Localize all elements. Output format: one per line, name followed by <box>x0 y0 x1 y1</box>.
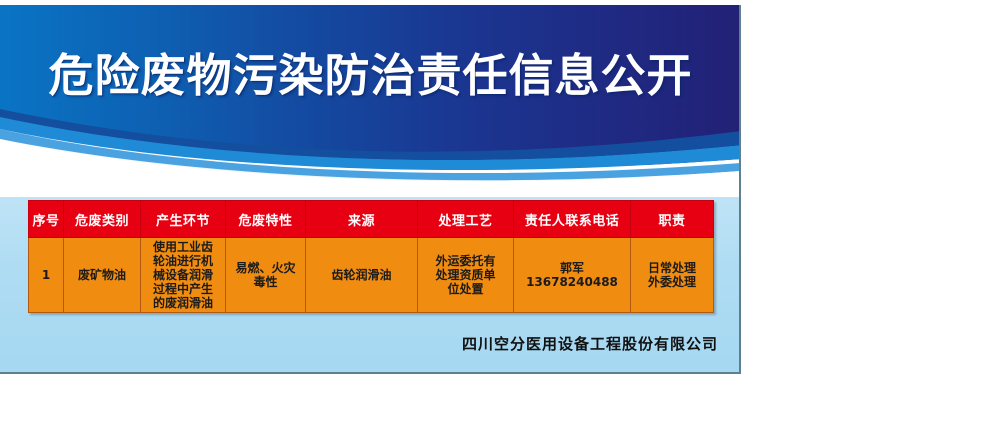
cell-text-line: 使用工业齿 <box>144 240 222 254</box>
cell-text-line: 外委处理 <box>634 275 710 289</box>
cell-text-line: 过程中产生 <box>144 282 222 296</box>
hazardous-waste-table: 序号 危废类别 产生环节 危废特性 来源 处理工艺 责任人联系电话 职责 1 废… <box>28 200 714 313</box>
cell-contact: 郭军13678240488 <box>514 238 631 313</box>
cell-source: 齿轮润滑油 <box>306 238 418 313</box>
column-header-contact: 责任人联系电话 <box>514 201 631 238</box>
cell-text-line: 轮油进行机 <box>144 254 222 268</box>
cell-seq: 1 <box>29 238 64 313</box>
cell-text-line: 位处置 <box>421 282 510 296</box>
table-row: 1 废矿物油 使用工业齿轮油进行机械设备润滑过程中产生的废润滑油 易燃、火灾毒性… <box>29 238 714 313</box>
cell-generation-stage: 使用工业齿轮油进行机械设备润滑过程中产生的废润滑油 <box>141 238 226 313</box>
column-header-category: 危废类别 <box>64 201 141 238</box>
column-header-treatment: 处理工艺 <box>418 201 514 238</box>
column-header-stage: 产生环节 <box>141 201 226 238</box>
table-header-row: 序号 危废类别 产生环节 危废特性 来源 处理工艺 责任人联系电话 职责 <box>29 201 714 238</box>
page-title: 危险废物污染防治责任信息公开 <box>0 49 741 103</box>
poster-banner: 危险废物污染防治责任信息公开 <box>0 5 741 165</box>
cell-text-line: 外运委托有 <box>421 254 510 268</box>
column-header-duty: 职责 <box>631 201 714 238</box>
cell-treatment-process: 外运委托有处理资质单位处置 <box>418 238 514 313</box>
cell-text-line: 处理资质单 <box>421 268 510 282</box>
cell-text-line: 13678240488 <box>517 275 627 289</box>
cell-text-line: 械设备润滑 <box>144 268 222 282</box>
information-poster: 危险废物污染防治责任信息公开 <box>0 5 741 374</box>
cell-text-line: 日常处理 <box>634 261 710 275</box>
column-header-property: 危废特性 <box>226 201 306 238</box>
cell-hazard-property: 易燃、火灾毒性 <box>226 238 306 313</box>
cell-duty: 日常处理外委处理 <box>631 238 714 313</box>
column-header-source: 来源 <box>306 201 418 238</box>
cell-text-line: 郭军 <box>517 261 627 275</box>
company-name: 四川空分医用设备工程股份有限公司 <box>0 333 718 354</box>
column-header-seq: 序号 <box>29 201 64 238</box>
cell-text-line: 易燃、火灾 <box>229 261 302 275</box>
cell-category: 废矿物油 <box>64 238 141 313</box>
screenshot-canvas: 危险废物污染防治责任信息公开 <box>0 0 1000 442</box>
cell-text-line: 毒性 <box>229 275 302 289</box>
cell-text-line: 的废润滑油 <box>144 296 222 310</box>
